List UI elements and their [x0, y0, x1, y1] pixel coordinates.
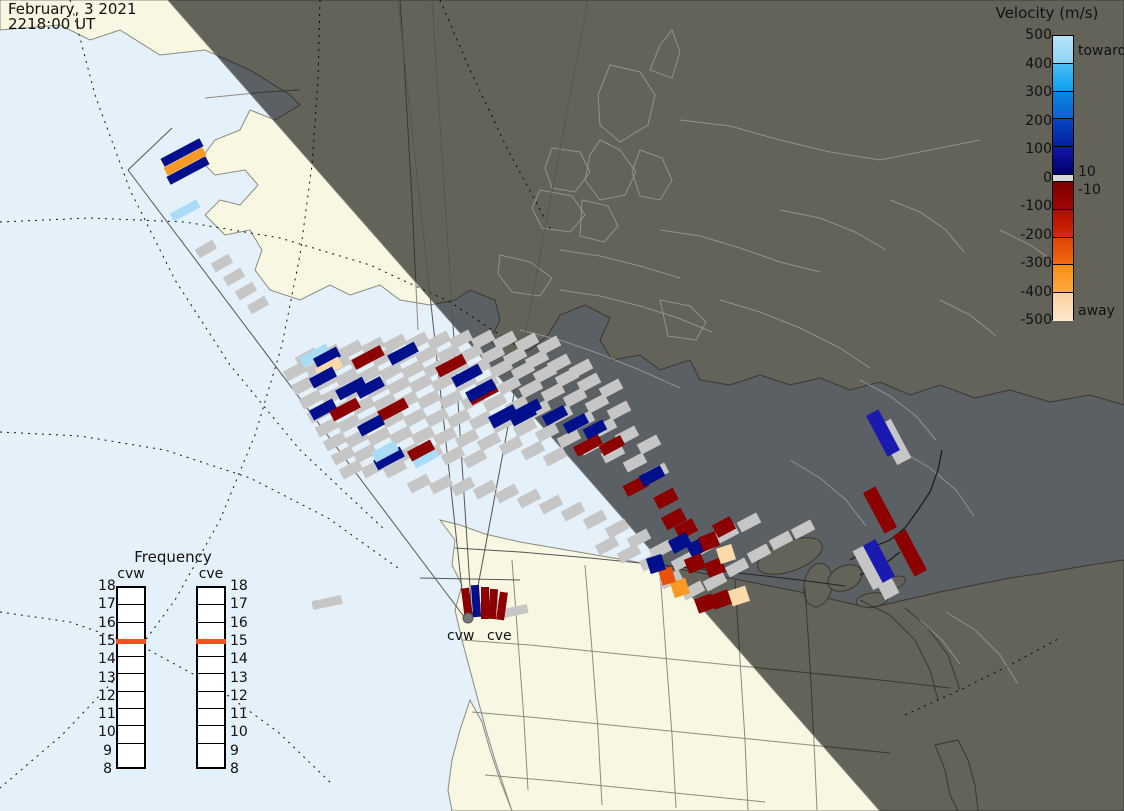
colorbar-tick-neg300: -300: [992, 255, 1052, 271]
velocity-cell: [481, 587, 489, 619]
colorbar-segment-band-m10-m100: [1053, 182, 1073, 210]
colorbar-tick-300: 300: [992, 84, 1052, 100]
frequency-tick-left-18: 18: [98, 578, 112, 594]
colorbar-segment-band-zero: [1053, 175, 1073, 182]
colorbar-segment-band-400-300: [1053, 64, 1073, 92]
frequency-cell: [198, 692, 224, 709]
frequency-tick-right-18: 18: [230, 578, 248, 594]
timestamp-time: 2218:00 UT: [8, 15, 95, 33]
frequency-tick-left-12: 12: [98, 688, 112, 704]
colorbar-segment-band-500-400: [1053, 36, 1073, 64]
frequency-cell: [198, 623, 224, 640]
colorbar-segment-band-m400-m500: [1053, 293, 1073, 321]
frequency-cell: [198, 605, 224, 622]
colorbar-tick-400: 400: [992, 56, 1052, 72]
frequency-tick-left-16: 16: [98, 615, 112, 631]
colorbar-tick-neg500: -500: [992, 312, 1052, 328]
colorbar-tick-neg200: -200: [992, 227, 1052, 243]
frequency-tick-right-17: 17: [230, 596, 248, 612]
colorbar-tick-neg400: -400: [992, 284, 1052, 300]
frequency-tick-right-14: 14: [230, 651, 248, 667]
radar-site-marker: [463, 613, 473, 623]
frequency-cell: [118, 709, 144, 726]
frequency-cell: [198, 709, 224, 726]
colorbar-label-pos-threshold: 10: [1078, 164, 1096, 180]
colorbar-tick-0: 0: [992, 170, 1052, 186]
frequency-cell: [118, 588, 144, 605]
frequency-tick-right-8: 8: [230, 761, 239, 777]
colorbar-tick-100: 100: [992, 141, 1052, 157]
frequency-cell: [118, 657, 144, 674]
frequency-panel: Frequency cvw cve 1818171716161515141413…: [98, 548, 248, 780]
frequency-tick-right-13: 13: [230, 670, 248, 686]
frequency-tick-left-17: 17: [98, 596, 112, 612]
frequency-tick-left-9: 9: [98, 743, 112, 759]
frequency-marker-cvw: [116, 639, 146, 644]
frequency-tick-right-15: 15: [230, 633, 248, 649]
colorbar-segment-band-m200-m300: [1053, 238, 1073, 266]
colorbar-tick-neg100: -100: [992, 198, 1052, 214]
frequency-tick-left-15: 15: [98, 633, 112, 649]
frequency-cell: [118, 726, 144, 743]
frequency-cell: [198, 588, 224, 605]
frequency-cell: [198, 726, 224, 743]
colorbar-tick-200: 200: [992, 113, 1052, 129]
frequency-tick-left-10: 10: [98, 724, 112, 740]
frequency-cell: [118, 674, 144, 691]
frequency-cell: [118, 605, 144, 622]
colorbar-segment-band-300-200: [1053, 92, 1073, 120]
frequency-tick-left-11: 11: [98, 706, 112, 722]
colorbar-label-neg-threshold: -10: [1078, 182, 1101, 198]
frequency-gauge-cvw: [116, 586, 146, 769]
frequency-tick-right-10: 10: [230, 724, 248, 740]
velocity-colorbar-panel: Velocity (m/s) 5004003002001000-100-200-…: [968, 0, 1124, 340]
frequency-cell: [118, 692, 144, 709]
radar-site-label-cve: cve: [487, 628, 512, 644]
colorbar-title: Velocity (m/s): [974, 4, 1120, 22]
colorbar-label-toward: toward: [1078, 43, 1124, 59]
frequency-tick-right-12: 12: [230, 688, 248, 704]
superdarn-map-figure: February, 3 20212218:00 UT cvw cve Veloc…: [0, 0, 1124, 811]
frequency-gauge-name-cve: cve: [186, 566, 236, 582]
radar-site-label-cvw: cvw: [447, 628, 474, 644]
frequency-tick-right-16: 16: [230, 615, 248, 631]
timestamp-label: February, 3 20212218:00 UT: [8, 2, 137, 32]
frequency-tick-left-8: 8: [98, 761, 112, 777]
colorbar-gradient: [1052, 35, 1074, 320]
colorbar-label-away: away: [1078, 303, 1115, 319]
frequency-cell: [118, 744, 144, 762]
colorbar-segment-band-100-10: [1053, 147, 1073, 175]
colorbar-segment-band-m100-m200: [1053, 210, 1073, 238]
frequency-gauge-cve: [196, 586, 226, 769]
frequency-cell: [198, 674, 224, 691]
frequency-cell: [198, 657, 224, 674]
frequency-tick-right-11: 11: [230, 706, 248, 722]
frequency-cell: [198, 744, 224, 762]
frequency-tick-right-9: 9: [230, 743, 239, 759]
colorbar-segment-band-200-100: [1053, 119, 1073, 147]
frequency-marker-cve: [196, 639, 226, 644]
colorbar-tick-500: 500: [992, 27, 1052, 43]
frequency-tick-left-13: 13: [98, 670, 112, 686]
frequency-title: Frequency: [98, 548, 248, 566]
colorbar-segment-band-m300-m400: [1053, 265, 1073, 293]
frequency-tick-left-14: 14: [98, 651, 112, 667]
frequency-cell: [118, 623, 144, 640]
